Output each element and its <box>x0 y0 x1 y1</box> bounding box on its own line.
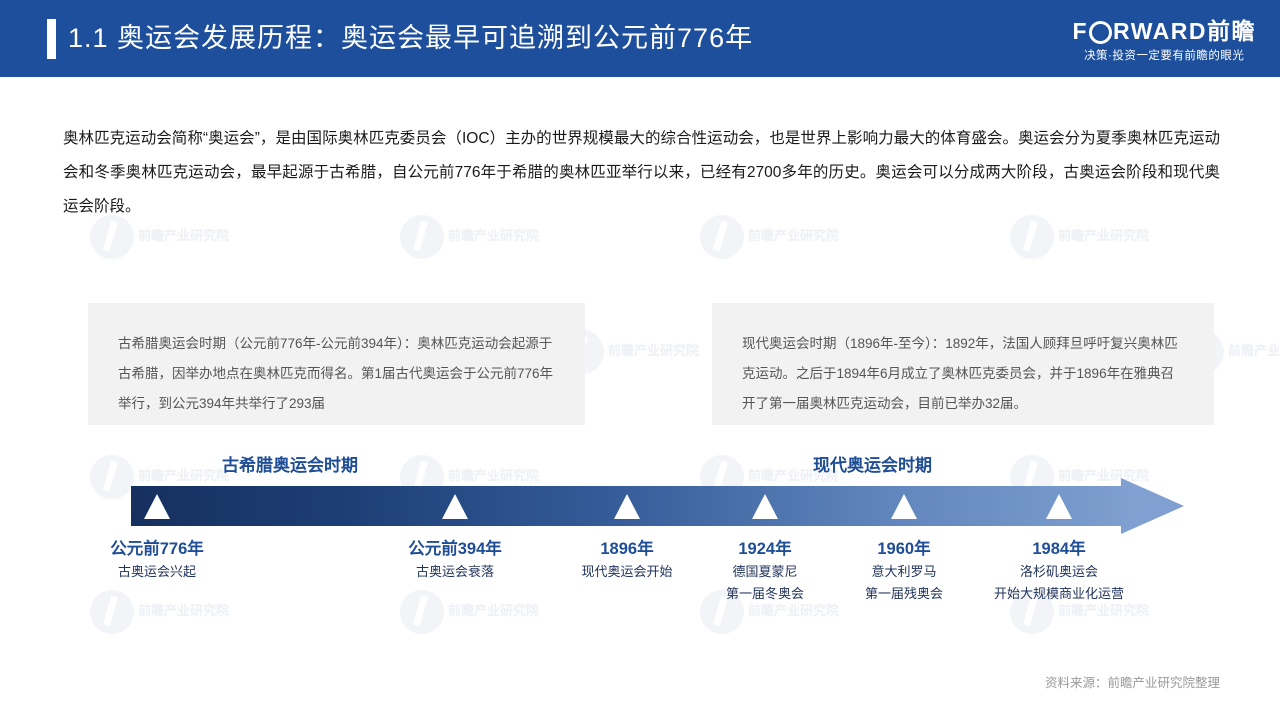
watermark-text: 前瞻产业研究院 <box>138 600 229 619</box>
timeline-description: 现代奥运会开始 <box>581 562 672 582</box>
watermark-logo-icon <box>90 455 134 499</box>
logo-tagline: 决策·投资一定要有前瞻的眼光 <box>1072 47 1256 63</box>
timeline-description: 古奥运会兴起 <box>110 562 204 582</box>
modern-period-box: 现代奥运会时期（1896年-至今）：1892年，法国人顾拜旦呼吁复兴奥林匹克运动… <box>712 303 1214 425</box>
era-label-ancient: 古希腊奥运会时期 <box>222 451 358 476</box>
timeline-arrow-head-icon <box>1121 478 1184 534</box>
ancient-period-text: 古希腊奥运会时期（公元前776年-公元前394年）：奥林匹克运动会起源于古希腊，… <box>88 303 585 419</box>
watermark-text: 前瞻产业研究院 <box>138 225 229 244</box>
watermark-text: 前瞻产业研究院 <box>748 225 839 244</box>
watermark-text: 前瞻产业研究院 <box>1058 225 1149 244</box>
timeline-item: 公元前394年古奥运会衰落 <box>408 538 502 582</box>
watermark-logo-icon <box>90 590 134 634</box>
logo-letter-f: F <box>1072 18 1088 44</box>
ancient-period-box: 古希腊奥运会时期（公元前776年-公元前394年）：奥林匹克运动会起源于古希腊，… <box>88 303 585 425</box>
timeline-item: 1924年德国夏蒙尼第一届冬奥会 <box>726 538 804 604</box>
timeline-item: 1984年洛杉矶奥运会开始大规模商业化运营 <box>994 538 1124 604</box>
timeline-arrow <box>131 486 1184 526</box>
timeline-marker-2 <box>442 494 468 519</box>
watermark-text: 前瞻产业研究院 <box>448 225 539 244</box>
timeline-marker-1 <box>144 494 170 519</box>
timeline-year: 公元前394年 <box>408 538 502 560</box>
timeline-item: 1896年现代奥运会开始 <box>581 538 672 582</box>
watermark-text: 前瞻产业研究院 <box>448 600 539 619</box>
era-label-modern: 现代奥运会时期 <box>813 451 932 476</box>
watermark-logo-icon <box>400 590 444 634</box>
watermark-text: 前瞻产业研究院 <box>1228 340 1280 359</box>
logo-wordmark-rest: RWARD前瞻 <box>1113 18 1256 44</box>
intro-paragraph: 奥林匹克运动会简称“奥运会”，是由国际奥林匹克委员会（IOC）主办的世界规模最大… <box>63 122 1220 224</box>
timeline-marker-6 <box>1046 494 1072 519</box>
timeline-marker-4 <box>752 494 778 519</box>
watermark-text: 前瞻产业研究院 <box>448 465 539 484</box>
timeline-item: 公元前776年古奥运会兴起 <box>110 538 204 582</box>
timeline-year: 1896年 <box>581 538 672 560</box>
timeline-year: 1924年 <box>726 538 804 560</box>
olympic-ring-icon <box>1089 21 1112 44</box>
watermark-text: 前瞻产业研究院 <box>608 340 699 359</box>
header-accent-bar <box>47 19 56 59</box>
timeline-description: 洛杉矶奥运会 <box>994 562 1124 582</box>
page-title: 1.1 奥运会发展历程：奥运会最早可追溯到公元前776年 <box>68 16 753 55</box>
timeline-year: 1960年 <box>865 538 943 560</box>
timeline-year: 公元前776年 <box>110 538 204 560</box>
timeline-marker-5 <box>891 494 917 519</box>
timeline-description: 意大利罗马 <box>865 562 943 582</box>
timeline-year: 1984年 <box>994 538 1124 560</box>
timeline-item: 1960年意大利罗马第一届残奥会 <box>865 538 943 604</box>
logo-wordmark: F RWARD前瞻 <box>1072 18 1256 44</box>
timeline-marker-3 <box>614 494 640 519</box>
watermark-text: 前瞻产业研究院 <box>138 465 229 484</box>
forward-logo: F RWARD前瞻 决策·投资一定要有前瞻的眼光 <box>1072 18 1256 63</box>
page-header: 1.1 奥运会发展历程：奥运会最早可追溯到公元前776年 F RWARD前瞻 决… <box>0 0 1280 77</box>
modern-period-text: 现代奥运会时期（1896年-至今）：1892年，法国人顾拜旦呼吁复兴奥林匹克运动… <box>712 303 1214 419</box>
timeline-description: 古奥运会衰落 <box>408 562 502 582</box>
timeline-description: 第一届残奥会 <box>865 584 943 604</box>
timeline-description: 开始大规模商业化运营 <box>994 584 1124 604</box>
timeline-description: 第一届冬奥会 <box>726 584 804 604</box>
source-note: 资料来源：前瞻产业研究院整理 <box>1045 672 1220 691</box>
timeline-description: 德国夏蒙尼 <box>726 562 804 582</box>
